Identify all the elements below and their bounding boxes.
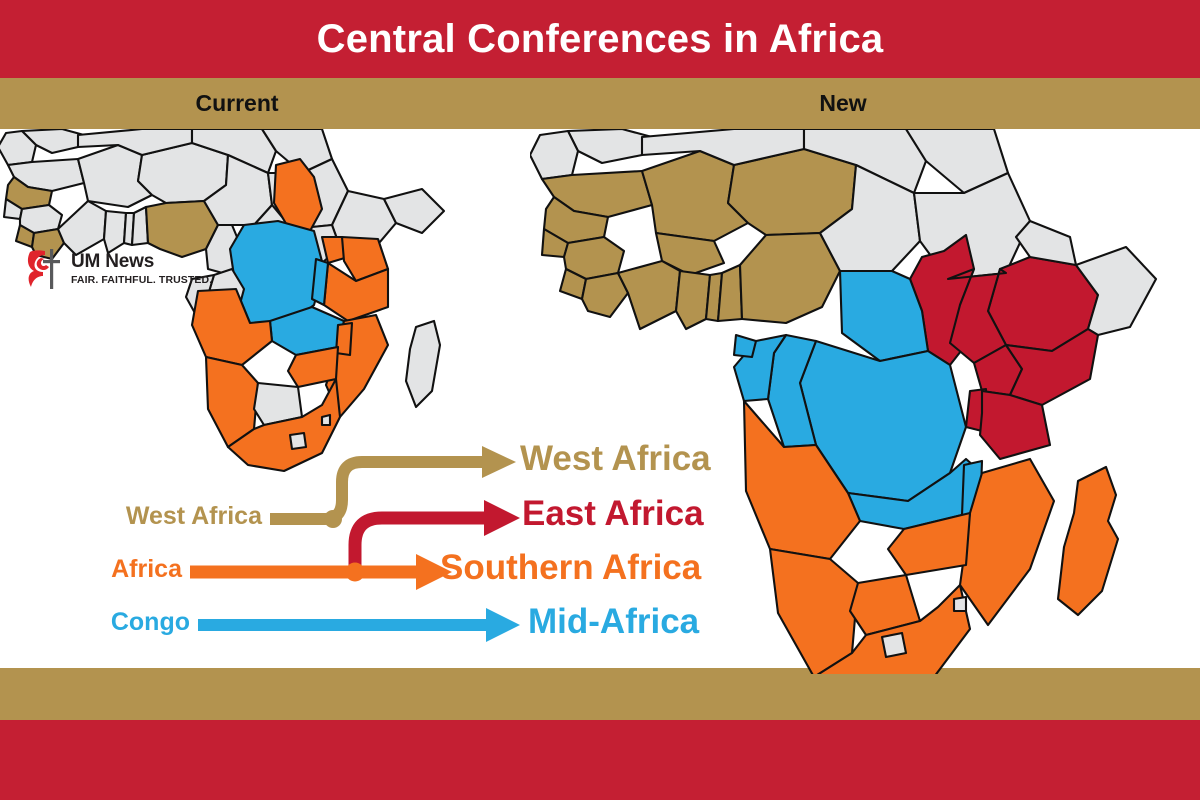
arrow-southern-africa-orange — [190, 554, 452, 590]
country-nigeria — [740, 233, 840, 323]
cross-and-flame-icon — [24, 246, 62, 292]
logo-title: UM News — [71, 252, 212, 271]
country-madagascar — [1058, 467, 1118, 615]
flow-source-label-congo: Congo — [0, 608, 190, 637]
bottom-crimson-band — [0, 720, 1200, 800]
arrow-mid-africa-blue — [198, 608, 520, 642]
flow-source-label-west-africa: West Africa — [0, 502, 262, 531]
page-title: Central Conferences in Africa — [0, 0, 1200, 78]
country-ghana — [676, 271, 710, 329]
country-benin — [718, 265, 742, 321]
infographic-canvas: Central Conferences in Africa Current Ne… — [0, 0, 1200, 800]
um-news-logo: UM News FAIR. FAITHFUL. TRUSTED. — [24, 246, 212, 292]
country-lesotho — [882, 633, 906, 657]
country-morocco — [568, 129, 652, 163]
bottom-tan-band — [0, 668, 1200, 720]
flow-source-label-africa: Africa — [0, 555, 182, 584]
country-equatorial-guinea — [734, 335, 756, 357]
flow-diagram: West Africa Africa Congo West Africa Eas… — [0, 420, 800, 670]
flow-target-label-southern-africa: Southern Africa — [440, 548, 701, 588]
subhead-current: Current — [137, 78, 337, 129]
country-madagascar — [406, 321, 440, 407]
logo-text-block: UM News FAIR. FAITHFUL. TRUSTED. — [71, 252, 212, 286]
flow-target-label-east-africa: East Africa — [522, 494, 704, 534]
country-western-sahara — [530, 131, 578, 179]
country-rwanda-burundi — [312, 259, 328, 305]
subhead-new: New — [743, 78, 943, 129]
country-eswatini — [954, 597, 966, 611]
logo-tagline: FAIR. FAITHFUL. TRUSTED. — [71, 275, 212, 286]
flow-target-label-mid-africa: Mid-Africa — [528, 602, 699, 642]
flow-target-label-west-africa: West Africa — [520, 439, 711, 479]
